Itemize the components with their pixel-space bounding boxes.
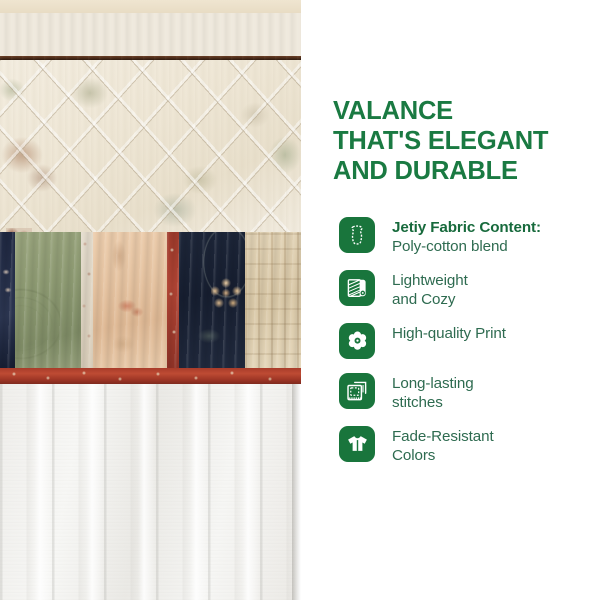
fabric-hide-icon — [339, 217, 375, 253]
patch-floral-narrow — [81, 232, 93, 370]
list-item: Lightweight and Cozy — [339, 270, 597, 309]
fabric-roll-icon — [339, 270, 375, 306]
feature-5-line2: Colors — [392, 447, 494, 466]
info-panel: VALANCE THAT'S ELEGANT AND DURABLE Jetiy… — [301, 0, 600, 600]
feature-4-line1: Long-lasting — [392, 375, 474, 392]
feature-4-line2: stitches — [392, 394, 474, 413]
patch-navy-flower — [179, 232, 245, 370]
feature-1-colon: : — [536, 219, 541, 236]
list-item: Jetiy Fabric Content: Poly-cotton blend — [339, 217, 597, 256]
rust-red-floral-binding — [0, 368, 301, 384]
list-item-label: Lightweight and Cozy — [392, 270, 468, 309]
patch-tan-plaid — [245, 232, 301, 370]
wooden-cornice-rod — [0, 13, 301, 60]
feature-2-line1: Lightweight — [392, 272, 468, 289]
patchwork-strip-band — [0, 232, 301, 370]
list-item-label: Long-lasting stitches — [392, 373, 474, 412]
patch-sage-green — [15, 232, 81, 370]
patch-peach-floral — [93, 232, 167, 370]
feature-2-line2: and Cozy — [392, 291, 468, 310]
wall-strip — [0, 0, 301, 13]
feature-5-line1: Fade-Resistant — [392, 428, 494, 445]
tshirt-garment-icon — [339, 426, 375, 462]
product-photo — [0, 0, 301, 600]
list-item: Long-lasting stitches — [339, 373, 597, 412]
cream-floral-quilted-panel — [0, 60, 301, 232]
feature-1-bold: Jetiy Fabric Content — [392, 219, 536, 236]
curtain-edge-shadow — [292, 384, 301, 600]
feature-list: Jetiy Fabric Content: Poly-cotton blend — [339, 217, 597, 465]
list-item-label: Fade-Resistant Colors — [392, 426, 494, 465]
headline-line-1: VALANCE — [333, 96, 583, 126]
list-item-label: Jetiy Fabric Content: Poly-cotton blend — [392, 217, 541, 256]
headline-line-2: THAT'S ELEGANT — [333, 126, 583, 156]
list-item-label: High-quality Print — [392, 323, 506, 344]
white-sheer-curtain-panels — [0, 384, 301, 600]
list-item: Fade-Resistant Colors — [339, 426, 597, 465]
patch-red-floral — [167, 232, 179, 370]
headline-line-3: AND DURABLE — [333, 156, 583, 186]
page-title: VALANCE THAT'S ELEGANT AND DURABLE — [333, 96, 583, 186]
patch-navy-floral — [0, 232, 15, 370]
stitch-square-icon — [339, 373, 375, 409]
flower-print-icon — [339, 323, 375, 359]
feature-1-line2: Poly-cotton blend — [392, 238, 541, 257]
product-feature-graphic: VALANCE THAT'S ELEGANT AND DURABLE Jetiy… — [0, 0, 600, 600]
list-item: High-quality Print — [339, 323, 597, 359]
feature-3-line1: High-quality Print — [392, 325, 506, 342]
